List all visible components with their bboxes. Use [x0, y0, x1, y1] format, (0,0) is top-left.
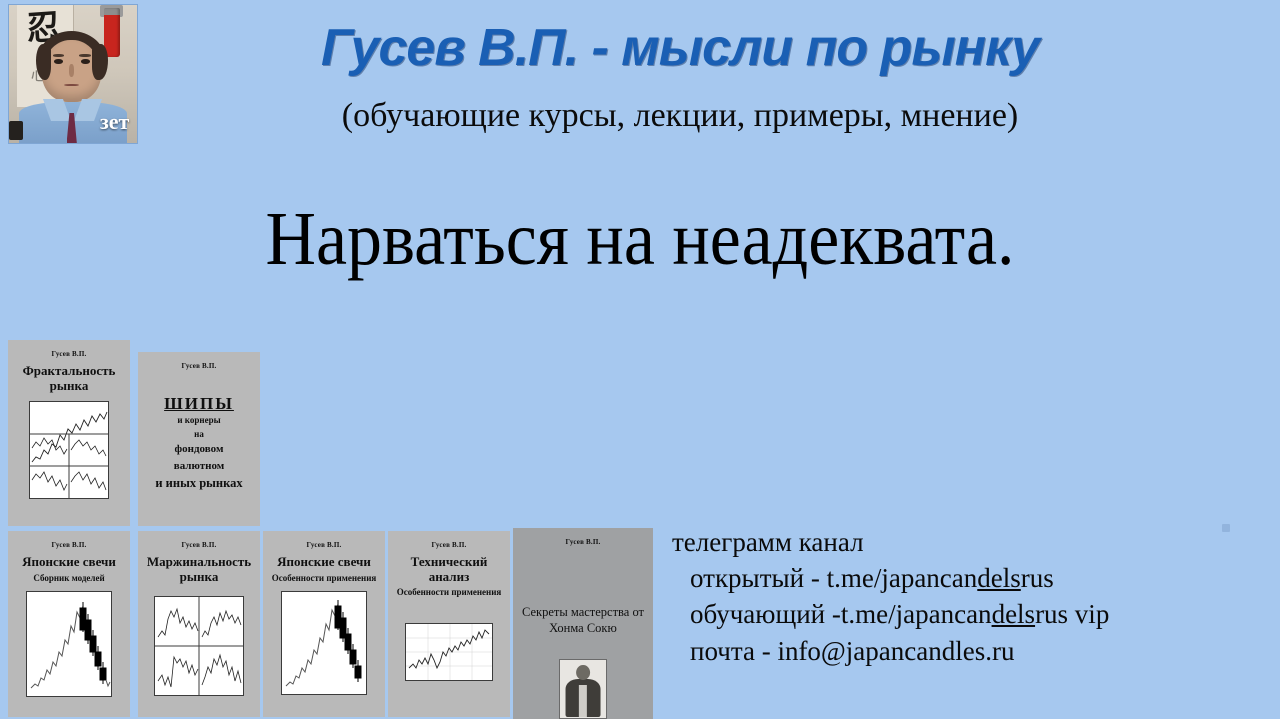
- book-chart-art: [29, 401, 109, 499]
- eye-left: [54, 59, 63, 64]
- book-title: Японские свечи: [263, 555, 385, 570]
- telegram-open-value-c[interactable]: rus: [1021, 563, 1054, 593]
- telegram-open-line: открытый - t.me/japancandelsrus: [672, 560, 1272, 596]
- telegram-vip-line: обучающий -t.me/japancandelsrus vip: [672, 596, 1272, 632]
- telegram-open-value-a[interactable]: t.me/japancan: [827, 563, 978, 593]
- book-author: Гусев В.П.: [388, 541, 510, 549]
- email-label: почта -: [690, 636, 777, 666]
- book-cover-marzhinalnost: Гусев В.П. Маржинальность рынка: [138, 531, 260, 717]
- book-line-4: фондовом: [138, 441, 260, 458]
- page-subtitle: (обучающие курсы, лекции, примеры, мнени…: [150, 96, 1210, 135]
- page-title: Гусев В.П. - мысли по рынку: [150, 22, 1210, 74]
- book-cover-svechi-osobennosti: Гусев В.П. Японские свечи Особенности пр…: [263, 531, 385, 717]
- book-title: Маржинальность рынка: [138, 555, 260, 584]
- book-chart-art: [281, 591, 367, 695]
- avatar-watermark: зет: [100, 109, 129, 135]
- book-chart-art: [405, 623, 493, 681]
- book-title: ШИПЫ: [138, 394, 260, 414]
- book-chart-art: [26, 591, 112, 697]
- telegram-vip-value-c[interactable]: rus vip: [1035, 599, 1109, 629]
- slide-root: 忍 心 зет Гусев В.П. - мысли по рынку (обу…: [0, 0, 1280, 719]
- book-title: Секреты мастерства от Хонма Сокю: [513, 604, 653, 637]
- avatar: 忍 心 зет: [8, 4, 138, 144]
- nose: [69, 64, 74, 76]
- image-artifact: [1222, 524, 1230, 532]
- book-author: Гусев В.П.: [138, 362, 260, 370]
- telegram-vip-label: обучающий -: [690, 599, 841, 629]
- telegram-heading: телеграмм канал: [672, 524, 1272, 560]
- email-value[interactable]: info@japancandles.ru: [777, 636, 1014, 666]
- book-title: Технический анализ: [388, 555, 510, 584]
- book-line-6: и иных рынках: [138, 474, 260, 493]
- book-cover-fraktalnost: Гусев В.П. Фрактальность рынка: [8, 340, 130, 526]
- hair-left: [36, 44, 51, 80]
- chart-grid-1x2x2-icon: [30, 402, 108, 498]
- book-author: Гусев В.П.: [513, 538, 653, 546]
- book-author: Гусев В.П.: [263, 541, 385, 549]
- candlestick-peak-icon: [27, 592, 111, 696]
- dark-object: [9, 121, 23, 140]
- book-subtitle: Особенности применения: [388, 587, 510, 597]
- book-line-2: и корнеры: [138, 414, 260, 428]
- book-line-5: валютном: [138, 458, 260, 475]
- book-title: Японские свечи: [8, 555, 130, 570]
- chart-uptrend-icon: [406, 624, 492, 680]
- main-headline: Нарваться на неадеквата.: [51, 198, 1229, 282]
- telegram-vip-value-a[interactable]: t.me/japancan: [841, 599, 992, 629]
- book-cover-svechi-sbornik: Гусев В.П. Японские свечи Сборник моделе…: [8, 531, 130, 717]
- book-author: Гусев В.П.: [8, 350, 130, 358]
- hair-right: [92, 44, 107, 80]
- book-cover-tehanaliz: Гусев В.П. Технический анализ Особенност…: [388, 531, 510, 717]
- avatar-photo: 忍 心 зет: [9, 5, 137, 143]
- portrait-head: [576, 665, 590, 680]
- eye-right: [81, 59, 90, 64]
- email-line: почта - info@japancandles.ru: [672, 633, 1272, 669]
- portrait-robe: [579, 685, 587, 717]
- candlestick-peak-icon: [282, 592, 366, 694]
- book-author: Гусев В.П.: [138, 541, 260, 549]
- eyebrow-right: [79, 54, 91, 57]
- book-cover-shipy: Гусев В.П. ШИПЫ и корнеры на фондовом ва…: [138, 352, 260, 526]
- chart-grid-2x2-icon: [155, 597, 243, 695]
- telegram-vip-value-b[interactable]: dels: [992, 599, 1036, 629]
- book-chart-art: [154, 596, 244, 696]
- book-subtitle: Особенности применения: [263, 573, 385, 583]
- book-cover-honma: Гусев В.П. Секреты мастерства от Хонма С…: [513, 528, 653, 719]
- book-line-3: на: [138, 428, 260, 442]
- contacts-block: телеграмм канал открытый - t.me/japancan…: [672, 524, 1272, 669]
- eyebrow-left: [53, 54, 65, 57]
- honma-portrait-icon: [559, 659, 607, 719]
- book-author: Гусев В.П.: [8, 541, 130, 549]
- telegram-open-label: открытый -: [690, 563, 827, 593]
- book-subtitle: Сборник моделей: [8, 573, 130, 583]
- book-title: Фрактальность рынка: [8, 364, 130, 393]
- telegram-open-value-b[interactable]: dels: [977, 563, 1021, 593]
